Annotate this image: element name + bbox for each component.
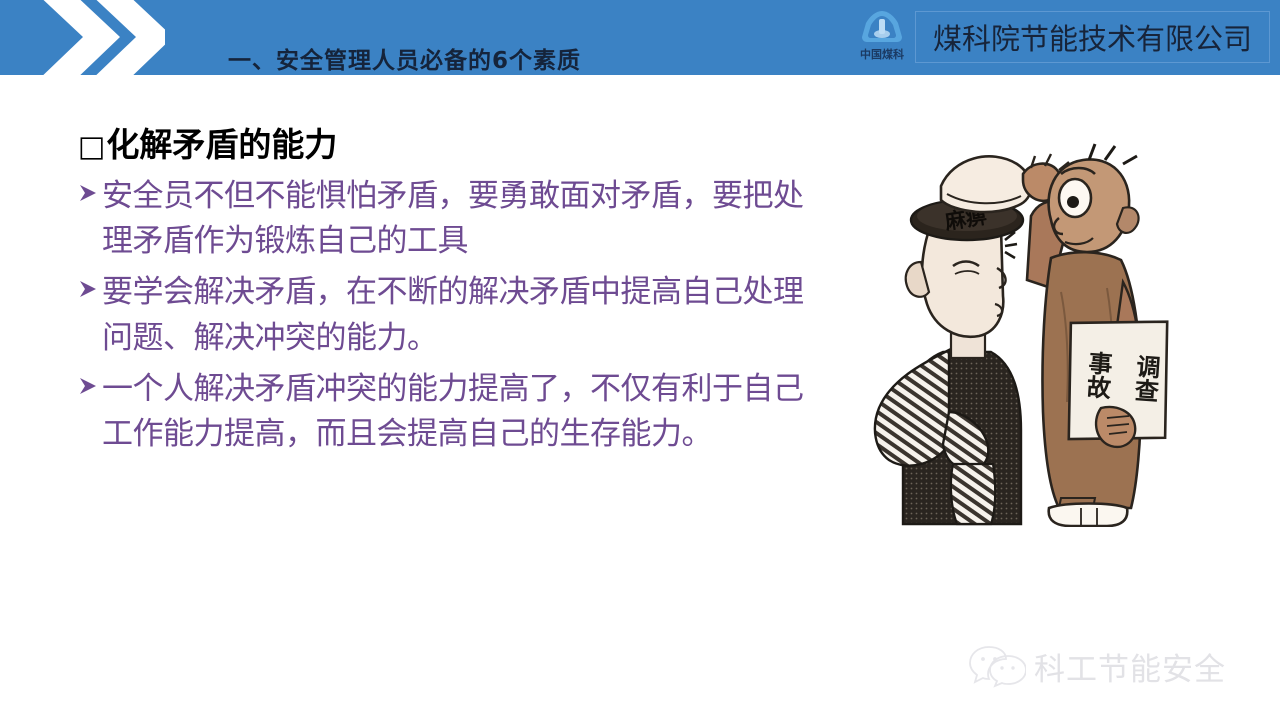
- corp-logo: 中国煤科: [848, 9, 916, 67]
- accident-investigation-cartoon: 麻痹 事故 调查: [845, 112, 1195, 527]
- wechat-icon: [968, 644, 1026, 688]
- page-title: 一、安全管理人员必备的6个素质: [228, 41, 581, 75]
- header-bar: 一、安全管理人员必备的6个素质 中国煤科 煤科院节能技术有限公司: [0, 0, 1280, 75]
- bullet-text: 要学会解决矛盾，在不断的解决矛盾中提高自己处理问题、解决冲突的能力。: [102, 270, 818, 361]
- arrowhead-right-icon: [78, 376, 102, 396]
- bullet-item: 安全员不但不能惧怕矛盾，要勇敢面对矛盾，要把处理矛盾作为锻炼自己的工具: [78, 174, 818, 265]
- section-heading-text: 化解矛盾的能力: [106, 125, 337, 164]
- bullet-item: 要学会解决矛盾，在不断的解决矛盾中提高自己处理问题、解决冲突的能力。: [78, 270, 818, 361]
- corp-logo-caption: 中国煤科: [848, 46, 916, 62]
- sign-text-1: 事故: [1082, 350, 1113, 401]
- content-area: □化解矛盾的能力 安全员不但不能惧怕矛盾，要勇敢面对矛盾，要把处理矛盾作为锻炼自…: [78, 126, 818, 463]
- wechat-watermark: 科工节能安全: [968, 638, 1258, 694]
- china-coal-tech-logo-icon: [858, 9, 906, 45]
- square-bullet-icon: □: [78, 129, 105, 163]
- arrowhead-right-icon: [78, 279, 102, 299]
- bullet-item: 一个人解决矛盾冲突的能力提高了，不仅有利于自己工作能力提高，而且会提高自己的生存…: [78, 367, 818, 458]
- arrowhead-right-icon: [78, 183, 102, 203]
- sign-text-2: 调查: [1130, 353, 1161, 403]
- watermark-text: 科工节能安全: [1034, 644, 1226, 689]
- company-name-box: 煤科院节能技术有限公司: [915, 11, 1270, 63]
- double-chevron-right-icon: [30, 0, 165, 75]
- bullet-text: 一个人解决矛盾冲突的能力提高了，不仅有利于自己工作能力提高，而且会提高自己的生存…: [102, 367, 818, 458]
- section-heading: □化解矛盾的能力: [78, 126, 818, 164]
- bullet-text: 安全员不但不能惧怕矛盾，要勇敢面对矛盾，要把处理矛盾作为锻炼自己的工具: [102, 174, 818, 265]
- company-name: 煤科院节能技术有限公司: [933, 16, 1252, 58]
